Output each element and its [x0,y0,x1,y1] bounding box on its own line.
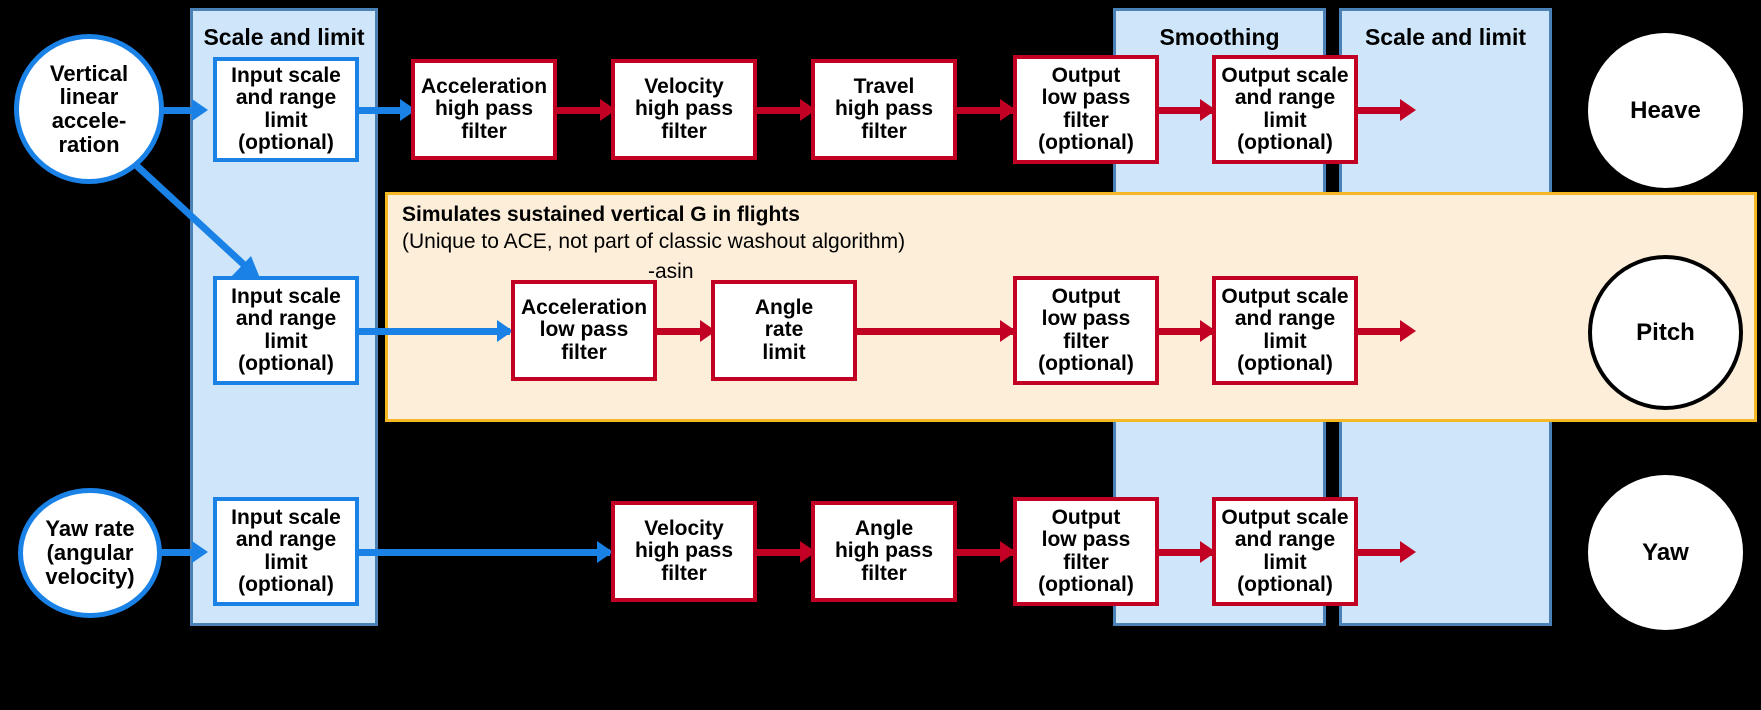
note-subtitle: (Unique to ACE, not part of classic wash… [402,230,905,254]
group-title-input-scale-and-limit: Scale and limit [193,25,375,49]
box-output-scale-pitch[interactable]: Output scaleand rangelimit(optional) [1212,276,1358,385]
diagram-canvas: Simulates sustained vertical G in flight… [0,0,1761,710]
connector-vaccel-to-inputscale-heave [160,107,196,114]
box-angle-rate-limit[interactable]: Angleratelimit [711,280,857,381]
note-title: Simulates sustained vertical G in flight… [402,203,800,227]
box-velocity-high-pass-filter-yaw[interactable]: Velocityhigh passfilter [611,501,757,602]
box-output-scale-heave[interactable]: Output scaleand rangelimit(optional) [1212,55,1358,164]
box-angle-high-pass-filter[interactable]: Anglehigh passfilter [811,501,957,602]
box-output-low-pass-filter-pitch[interactable]: Outputlow passfilter(optional) [1013,276,1159,385]
input-node-yaw-rate[interactable]: Yaw rate(angularvelocity) [18,488,162,618]
box-velocity-high-pass-filter-heave[interactable]: Velocityhigh passfilter [611,59,757,160]
connector-anglerate-to-outlp-pitch [856,328,1014,335]
arrow-outscale-to-pitch [1400,320,1416,342]
output-node-pitch[interactable]: Pitch [1588,255,1743,410]
box-travel-high-pass-filter[interactable]: Travelhigh passfilter [811,59,957,160]
arrow-vaccel-to-inputscale-heave [192,99,208,121]
output-node-heave[interactable]: Heave [1588,33,1743,188]
output-node-yaw[interactable]: Yaw [1588,475,1743,630]
group-title-smoothing: Smoothing [1116,25,1323,49]
box-input-scale-pitch[interactable]: Input scaleand rangelimit(optional) [213,276,359,385]
box-acceleration-low-pass-filter[interactable]: Accelerationlow passfilter [511,280,657,381]
group-title-output-scale-and-limit: Scale and limit [1342,25,1549,49]
box-output-scale-yaw[interactable]: Output scaleand rangelimit(optional) [1212,497,1358,606]
connector-yawrate-to-inputscale-yaw [160,549,196,556]
input-node-vertical-linear-acceleration[interactable]: Verticallinearaccele-ration [14,34,164,184]
box-output-low-pass-filter-yaw[interactable]: Outputlow passfilter(optional) [1013,497,1159,606]
connector-inputscaleyaw-to-velhp-yaw [358,549,610,556]
connector-inputscalepitch-to-accellp [358,328,510,335]
arrow-outscale-to-yaw [1400,541,1416,563]
box-acceleration-high-pass-filter[interactable]: Accelerationhigh passfilter [411,59,557,160]
arrow-outscale-to-heave [1400,99,1416,121]
box-input-scale-heave[interactable]: Input scaleand rangelimit(optional) [213,57,359,162]
box-output-low-pass-filter-heave[interactable]: Outputlow passfilter(optional) [1013,55,1159,164]
box-input-scale-yaw[interactable]: Input scaleand rangelimit(optional) [213,497,359,606]
arrow-yawrate-to-inputscale-yaw [192,541,208,563]
